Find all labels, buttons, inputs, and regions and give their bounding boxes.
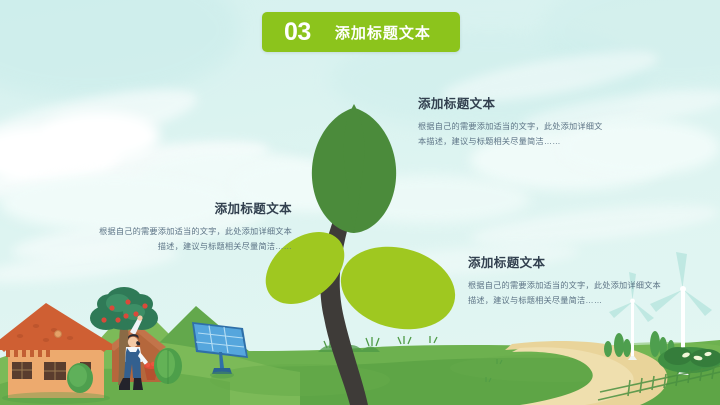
text-block-top-heading: 添加标题文本 [418,93,610,112]
text-block-top: 添加标题文本 根据自己的需要添加适当的文字，此处添加详细文本描述，建议与标题相关… [418,93,610,149]
text-block-right: 添加标题文本 根据自己的需要添加适当的文字，此处添加详细文本描述，建议与标题相关… [468,252,664,308]
leafy-bush [154,348,182,384]
right-leaf [332,235,464,341]
flower-patch [658,347,720,373]
text-block-left-body: 根据自己的需要添加适当的文字，此处添加详细文本描述，建议与标题相关尽量简洁…… [92,224,292,254]
text-block-left: 添加标题文本 根据自己的需要添加适当的文字，此处添加详细文本描述，建议与标题相关… [92,198,292,254]
text-block-left-heading: 添加标题文本 [92,198,292,217]
presentation-slide: 03 添加标题文本 [0,0,720,405]
text-block-right-body: 根据自己的需要添加适当的文字，此处添加详细文本描述，建议与标题相关尽量简洁…… [468,278,664,308]
text-block-right-heading: 添加标题文本 [468,252,664,271]
text-block-top-body: 根据自己的需要添加适当的文字，此处添加详细文本描述，建议与标题相关尽量简洁…… [418,119,610,149]
